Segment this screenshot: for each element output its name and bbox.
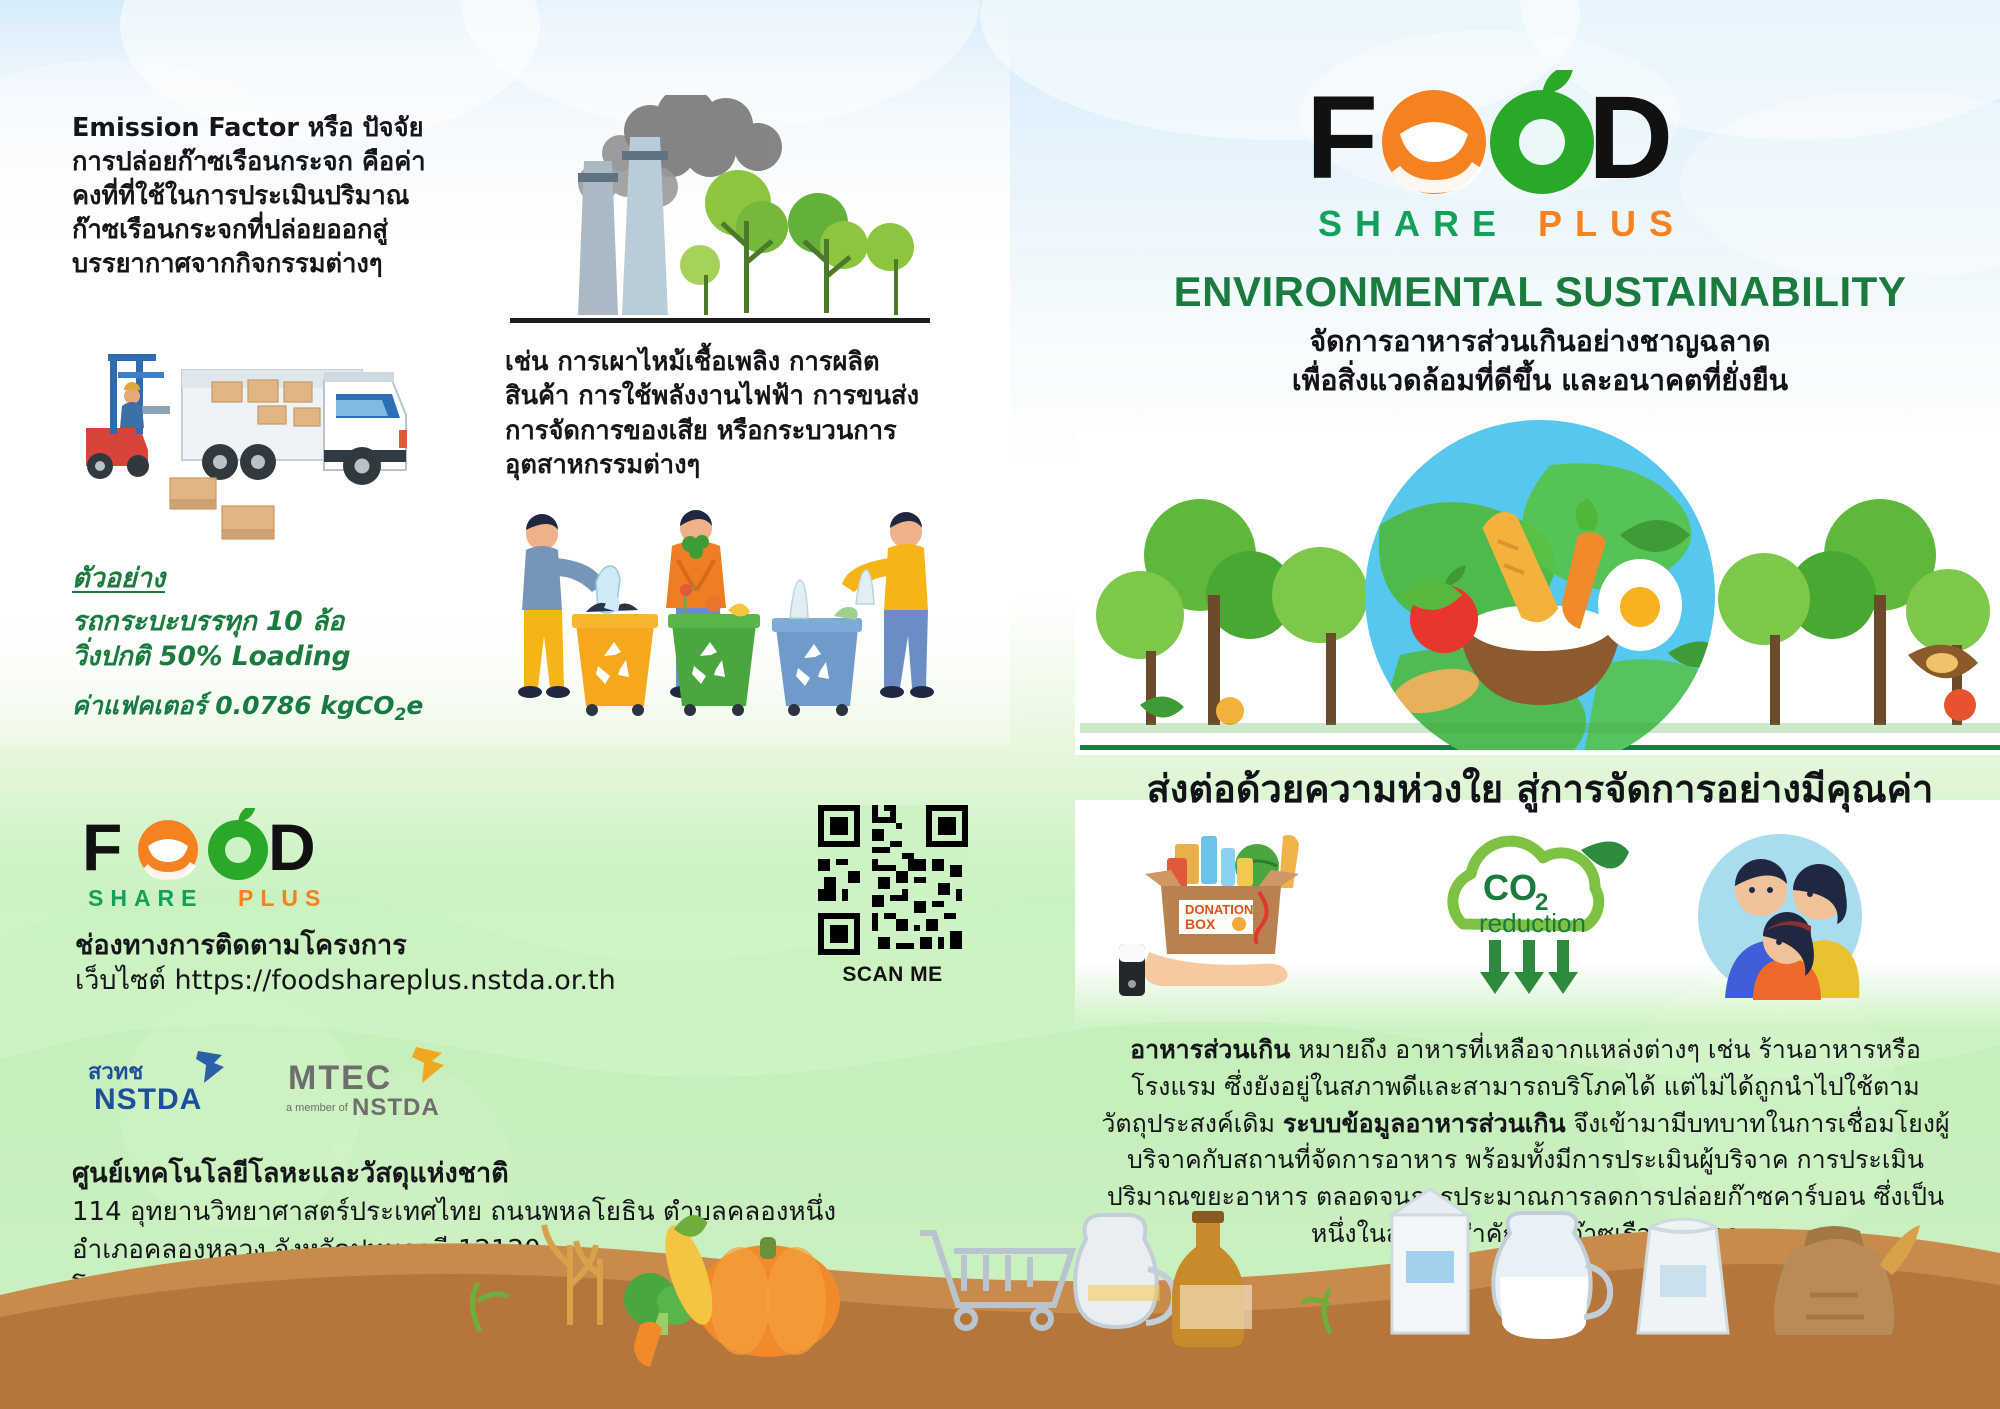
- qr-code-image[interactable]: [818, 805, 968, 955]
- address-line-2: อำเภอคลองหลวง จังหวัดปทุมธานี 12120: [72, 1231, 932, 1269]
- address-block: ศูนย์เทคโนโลยีโลหะและวัสดุแห่งชาติ 114 อ…: [72, 1155, 932, 1308]
- emission-examples-paragraph: เช่น การเผาไหม้เชื้อเพลิง การผลิตสินค้า …: [505, 345, 935, 483]
- tagline-thai: ส่งต่อด้วยความห่วงใย สู่การจัดการอย่างมี…: [1075, 758, 2000, 819]
- headline-thai-line-2: เพื่อสิ่งแวดล้อมที่ดีขึ้น และอนาคตที่ยั่…: [1075, 361, 2000, 400]
- organisation-name: ศูนย์เทคโนโลยีโลหะและวัสดุแห่งชาติ: [72, 1155, 932, 1193]
- svg-text:SHARE: SHARE: [1318, 203, 1509, 244]
- svg-text:BOX: BOX: [1185, 916, 1216, 932]
- factor-prefix: ค่าแฟคเตอร์ 0.0786 kgCO: [72, 691, 395, 720]
- headline-thai-line-1: จัดการอาหารส่วนเกินอย่างชาญฉลาด: [1075, 322, 2000, 361]
- factor-subscript: 2: [395, 705, 407, 725]
- emission-factor-paragraph: Emission Factor หรือ ปัจจัยการปล่อยก๊าซเ…: [72, 112, 432, 282]
- surplus-term-1: อาหารส่วนเกิน: [1130, 1035, 1290, 1064]
- svg-text:PLUS: PLUS: [238, 885, 327, 911]
- donation-box-on-hand-icon: DONATION BOX: [1105, 828, 1355, 1003]
- follow-title: ช่องทางการติดตามโครงการ: [75, 928, 695, 963]
- factory-ground-line: [510, 318, 930, 323]
- svg-text:SHARE: SHARE: [88, 885, 204, 911]
- svg-text:a member of: a member of: [286, 1102, 349, 1114]
- factory-smokestack-icon: [500, 95, 940, 325]
- mtec-nstda-logo: MTEC MTEC a member of NSTDA: [286, 1047, 444, 1121]
- svg-text:NSTDA: NSTDA: [94, 1083, 202, 1116]
- example-factor-value: ค่าแฟคเตอร์ 0.0786 kgCO2e: [72, 686, 452, 726]
- surplus-term-2: ระบบข้อมูลอาหารส่วนเกิน: [1283, 1109, 1566, 1138]
- food-share-plus-logo-main: F D SHARE PLUS: [1300, 70, 1690, 250]
- svg-text:สวทช: สวทช: [88, 1060, 143, 1085]
- example-line-2: วิ่งปกติ 50% Loading: [72, 640, 452, 675]
- people-recycling-icon: [500, 500, 945, 730]
- address-line-1: 114 อุทยานวิทยาศาสตร์ประเทศไทย ถนนพหลโยธ…: [72, 1193, 932, 1231]
- delivery-truck-icon: [62, 310, 422, 560]
- qr-code-block[interactable]: SCAN ME: [800, 805, 985, 987]
- family-avatar-icon: [1685, 828, 1875, 1003]
- surplus-food-paragraph: อาหารส่วนเกิน หมายถึง อาหารที่เหลือจากแห…: [1098, 1032, 1953, 1253]
- svg-text:PLUS: PLUS: [1538, 203, 1686, 244]
- nstda-logo: สวทช NSTDA: [88, 1051, 224, 1116]
- headline-english: ENVIRONMENTAL SUSTAINABILITY: [1075, 268, 2000, 316]
- svg-text:D: D: [1588, 72, 1673, 204]
- follow-project-block: ช่องทางการติดตามโครงการ เว็บไซต์ https:/…: [75, 928, 695, 1000]
- svg-text:D: D: [268, 810, 316, 884]
- website-url[interactable]: เว็บไซต์ https://foodshareplus.nstda.or.…: [75, 963, 695, 999]
- example-block: ตัวอย่าง รถกระบะบรรทุก 10 ล้อ วิ่งปกติ 5…: [72, 556, 452, 726]
- organisation-logos: สวทช NSTDA MTEC MTEC a member of NSTDA: [80, 1045, 500, 1140]
- example-line-1: รถกระบะบรรทุก 10 ล้อ: [72, 605, 452, 640]
- svg-text:CO: CO: [1483, 867, 1537, 908]
- factor-suffix: e: [406, 691, 423, 720]
- co2-reduction-cloud-icon: CO 2 reduction: [1405, 828, 1655, 1003]
- earth-globe-food-illustration: [1080, 405, 2000, 750]
- svg-text:DONATION: DONATION: [1185, 902, 1253, 917]
- example-title: ตัวอย่าง: [72, 556, 452, 599]
- headline-thai: จัดการอาหารส่วนเกินอย่างชาญฉลาด เพื่อสิ่…: [1075, 322, 2000, 400]
- benefit-icons-row: DONATION BOX CO 2 reduction: [1105, 828, 1985, 1003]
- scan-me-label: SCAN ME: [800, 963, 985, 987]
- svg-text:reduction: reduction: [1479, 908, 1586, 938]
- svg-text:NSTDA: NSTDA: [352, 1094, 440, 1121]
- phone-line: โทรศัพท์: 0 2564 6500: [72, 1270, 932, 1308]
- brochure-page: Emission Factor หรือ ปัจจัยการปล่อยก๊าซเ…: [0, 0, 2000, 1409]
- svg-text:F: F: [82, 810, 122, 884]
- food-share-plus-logo-footer: F D SHARE PLUS: [78, 808, 348, 913]
- svg-text:F: F: [1306, 72, 1378, 204]
- emission-factor-lead: Emission Factor: [72, 113, 299, 143]
